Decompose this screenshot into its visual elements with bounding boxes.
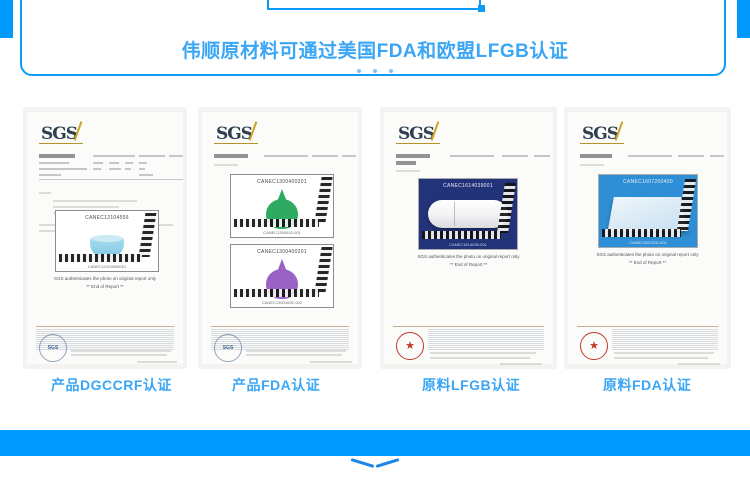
end-of-report-note: ** End of Report ** [568, 260, 727, 265]
certificate-card-dgccrf[interactable]: SGS [24, 108, 186, 368]
photo-inner: CANEC1607200400 CANEC1607200-001 [599, 175, 697, 247]
sample-photo-label-line [580, 164, 604, 166]
chevron-stroke-left [351, 458, 375, 468]
header-edge-block-left [0, 0, 13, 38]
table-cell-line [93, 162, 103, 164]
sgs-logo-underline [39, 143, 83, 144]
report-no-line [264, 155, 308, 157]
footer-contact-line [246, 350, 346, 352]
certificate-page: SGS CANEC1300400201 CANEC1300402-001 [202, 112, 358, 364]
header-subtitle: 伟顺原材料可通过美国FDA和欧盟LFGB认证 [0, 36, 750, 63]
caption-lfgb: 原料LFGB认证 [422, 375, 520, 395]
header-band: 权威认证资质 伟顺原材料可通过美国FDA和欧盟LFGB认证 [0, 0, 750, 90]
table-row-line [39, 174, 61, 176]
sgs-logo: SGS [41, 124, 77, 144]
footer-contact-line [614, 357, 708, 359]
report-label-line [396, 154, 430, 158]
report-date-line [139, 155, 165, 157]
footer-rule [577, 326, 718, 327]
sgs-seal-icon: SGS [214, 334, 242, 362]
sgs-logo: SGS [398, 124, 434, 144]
ruler-vertical-icon [497, 183, 516, 233]
photo-inner: CANEC12104556 CANEC12104556001 [56, 211, 158, 271]
report-page-line [169, 155, 183, 157]
footer-member-line [678, 363, 720, 365]
dot-icon [357, 69, 361, 73]
header-dots [0, 62, 750, 80]
photo-code-label: CANEC1300400201 [231, 249, 333, 255]
photo-auth-note: SGS authenticates the photo on original … [568, 252, 727, 257]
report-label-line [580, 154, 612, 158]
sgs-logo: SGS [216, 124, 252, 144]
bottom-blue-bar [0, 430, 750, 456]
ruler-horizontal-icon [422, 231, 501, 239]
photo-sub-label: CANEC1607200-001 [599, 240, 697, 245]
report-sublabel-line [396, 161, 416, 165]
caption-raw-fda: 原料FDA认证 [603, 375, 691, 395]
red-star-seal-icon: ★ [396, 332, 424, 360]
footer-rule [36, 326, 174, 327]
photo-sub-label: CANEC1300402-001 [231, 230, 333, 235]
footer-rule [393, 326, 544, 327]
report-page-line [342, 155, 356, 157]
chevron-down-icon[interactable] [351, 458, 399, 474]
certificate-card-lfgb[interactable]: SGS CANEC1614039001 CANEC1614039-001 SGS… [381, 108, 556, 368]
sample-photo-label-line [396, 170, 420, 172]
sample-photo: CANEC1300400201 CANEC1300400E-002 [230, 244, 334, 308]
ruler-horizontal-icon [602, 229, 681, 237]
photo-code-label: CANEC1607200400 [599, 179, 697, 185]
caption-dgccrf: 产品DGCCRF认证 [51, 375, 172, 395]
footer-rule [211, 326, 349, 327]
footer-contact-line [614, 352, 714, 354]
certificate-card-fda[interactable]: SGS CANEC1300400201 CANEC1300402-001 [199, 108, 361, 368]
footer-fineprint [612, 329, 718, 351]
photo-sub-label: CANEC1300400E-002 [231, 300, 333, 305]
sgs-logo-underline [214, 143, 258, 144]
table-cell-line [125, 162, 133, 164]
photo-code-label: CANEC1614039001 [419, 183, 517, 189]
certificate-page: SGS CANEC1614039001 CANEC1614039-001 SGS… [384, 112, 553, 364]
caption-fda: 产品FDA认证 [232, 375, 320, 395]
table-rule [39, 179, 183, 180]
table-cell-line [125, 168, 131, 170]
photo-sub-label: CANEC12104556001 [56, 264, 158, 269]
report-label-line [39, 154, 75, 158]
ruler-horizontal-icon [234, 289, 319, 297]
certificate-card-raw-fda[interactable]: SGS CANEC1607200400 CANEC1607200-001 SGS… [565, 108, 730, 368]
photo-sub-label: CANEC1614039-001 [419, 242, 517, 247]
sample-photo: CANEC12104556 CANEC12104556001 [55, 210, 159, 272]
sgs-logo: SGS [582, 124, 618, 144]
report-no-line [450, 155, 494, 157]
report-no-line [628, 155, 672, 157]
report-no-line [93, 155, 135, 157]
dot-icon [373, 69, 377, 73]
dot-icon [389, 69, 393, 73]
certificate-page: SGS CANEC1607200400 CANEC1607200-001 SGS… [568, 112, 727, 364]
table-row-line [39, 168, 87, 170]
ruler-horizontal-icon [59, 254, 142, 262]
sgs-logo-underline [396, 143, 440, 144]
end-of-report-note: ** End of Report ** [384, 262, 553, 267]
certificate-page: SGS [27, 112, 183, 364]
note-line [53, 200, 137, 202]
footer-contact-line [430, 357, 530, 359]
certificate-gallery: SGS [0, 108, 750, 370]
table-cell-line [139, 168, 145, 170]
photo-inner: CANEC1300400201 CANEC1300402-001 [231, 175, 333, 237]
sample-photo: CANEC1607200400 CANEC1607200-001 [598, 174, 698, 248]
table-cell-line [109, 162, 119, 164]
chevron-stroke-right [376, 458, 400, 468]
sample-object-white-case [428, 200, 508, 228]
sample-object-white-sheet [607, 197, 686, 231]
footer-contact-line [246, 354, 342, 356]
photo-auth-note: SGS authenticates the photo on original … [384, 254, 553, 259]
footer-member-line [310, 361, 352, 363]
report-date-line [678, 155, 704, 157]
table-cell-line [109, 168, 121, 170]
notes-title-line [39, 192, 51, 194]
table-row-line [39, 162, 69, 164]
footer-fineprint [428, 329, 544, 351]
header-edge-block-right [737, 0, 750, 38]
sample-photo: CANEC1614039001 CANEC1614039-001 [418, 178, 518, 250]
end-of-report-note: ** End of Report ** [27, 284, 183, 289]
report-page-line [710, 155, 724, 157]
sgs-seal-icon: SGS [39, 334, 67, 362]
footer-member-line [500, 363, 542, 365]
footer-contact-line [71, 350, 171, 352]
photo-inner: CANEC1300400201 CANEC1300400E-002 [231, 245, 333, 307]
table-cell-line [93, 168, 101, 170]
report-date-line [312, 155, 338, 157]
red-star-seal-icon: ★ [580, 332, 608, 360]
ruler-horizontal-icon [234, 219, 319, 227]
footer-member-line [137, 361, 177, 363]
photo-inner: CANEC1614039001 CANEC1614039-001 [419, 179, 517, 249]
footer-contact-line [430, 352, 536, 354]
note-line [53, 206, 119, 208]
section-title-tab: 权威认证资质 [267, 0, 481, 10]
sgs-logo-underline [580, 143, 624, 144]
title-tab-corner-marker [478, 5, 485, 12]
report-label-line [214, 154, 248, 158]
sample-photo: CANEC1300400201 CANEC1300402-001 [230, 174, 334, 238]
report-date-line [502, 155, 528, 157]
report-page-line [534, 155, 550, 157]
photo-code-label: CANEC1300400201 [231, 179, 333, 185]
photo-code-label: CANEC12104556 [56, 215, 158, 221]
footer-contact-line [71, 354, 167, 356]
table-cell-line [139, 174, 153, 176]
table-cell-line [139, 162, 147, 164]
sample-photo-label-line [214, 164, 238, 166]
certificate-captions: 产品DGCCRF认证 产品FDA认证 原料LFGB认证 原料FDA认证 [0, 375, 750, 399]
photo-auth-note: SGS authenticates the photo on original … [27, 276, 183, 281]
